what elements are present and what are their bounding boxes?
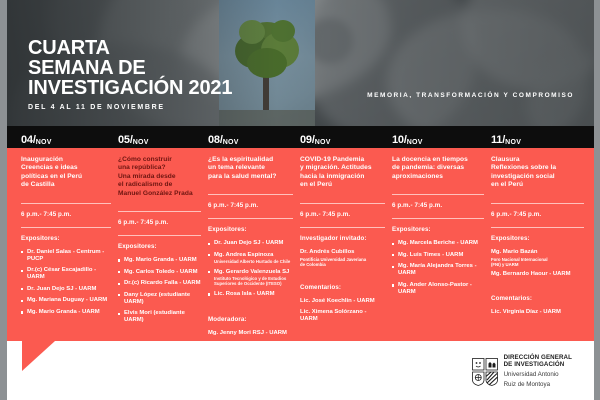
affiliation: Instituto Tecnológico y de EstudiosSuper… bbox=[214, 276, 293, 286]
speaker-name: Mg. Andrea Espinoza bbox=[214, 252, 273, 258]
session-time: 6 p.m.- 7:45 p.m. bbox=[392, 202, 484, 209]
speaker-name: Mg. Mario Granda - UARM bbox=[27, 309, 100, 315]
date-day: 08/ bbox=[208, 134, 223, 146]
date-header-09: 09/NOV bbox=[295, 126, 387, 148]
schedule-column: La docencia en tiemposde pandemia: diver… bbox=[387, 148, 486, 341]
date-month: NOV bbox=[223, 139, 239, 146]
speaker-list: Mg. Mario Granda - UARMMg. Carlos Toledo… bbox=[118, 257, 201, 324]
date-day: 05/ bbox=[118, 134, 133, 146]
person-entry: Lic. Ximena Solórzano - UARM bbox=[300, 309, 385, 324]
person-block: Mg. Jenny Mori RSJ - UARM bbox=[208, 330, 293, 337]
speaker-item: Dr. Juan Dejo SJ - UARM bbox=[21, 286, 111, 293]
session-time: 6 p.m.- 7:45 p.m. bbox=[300, 211, 385, 218]
speakers-label: Expositores: bbox=[21, 235, 111, 242]
hero-tagline: MEMORIA, TRANSFORMACIÓN Y COMPROMISO bbox=[367, 92, 574, 99]
person-name: Lic. Virginia Díaz - UARM bbox=[491, 309, 561, 315]
university-name-line-1: Universidad Antonio bbox=[504, 371, 572, 379]
speaker-item: Dr. Daniel Salas - Centrum - PUCP bbox=[21, 249, 111, 263]
person-entry: Lic. José Koechlin - UARM bbox=[300, 298, 385, 305]
person-name: Mg. Jenny Mori RSJ - UARM bbox=[208, 330, 287, 336]
divider bbox=[21, 227, 111, 228]
divider bbox=[491, 203, 584, 204]
date-month: NOV bbox=[36, 139, 52, 146]
person-block: Lic. José Koechlin - UARMLic. Ximena Sol… bbox=[300, 298, 385, 324]
date-month: NOV bbox=[407, 139, 423, 146]
footer: DIRECCIÓN GENERAL DE INVESTIGACIÓN Unive… bbox=[7, 341, 594, 400]
date-month: NOV bbox=[315, 139, 331, 146]
divider bbox=[392, 194, 484, 195]
date-day: 09/ bbox=[300, 134, 315, 146]
speaker-name: Mg. Gerardo Valenzuela SJ bbox=[214, 269, 289, 275]
speaker-item: Mg. María Alejandra Torres - UARM bbox=[392, 263, 484, 277]
speech-bubble-tail bbox=[22, 341, 55, 371]
divider bbox=[491, 227, 584, 228]
institution-logo-text: DIRECCIÓN GENERAL DE INVESTIGACIÓN Unive… bbox=[504, 354, 572, 389]
date-header-05: 05/NOV bbox=[113, 126, 203, 148]
speaker-name: Mg. Carlos Toledo - UARM bbox=[124, 269, 198, 275]
date-header-11: 11/NOV bbox=[486, 126, 586, 148]
affiliation: Pontificia Universidad Javerianade Colom… bbox=[300, 257, 385, 267]
shield-crest-icon bbox=[472, 358, 498, 386]
speaker-item: Dr.(c) César Escajadillo - UARM bbox=[21, 267, 111, 281]
left-edge-strip bbox=[0, 0, 7, 400]
date-day: 04/ bbox=[21, 134, 36, 146]
hero-title-line-3: INVESTIGACIÓN 2021 bbox=[28, 78, 232, 98]
speaker-name: Mg. Luis Times - UARM bbox=[398, 252, 463, 258]
session-time: 6 p.m.- 7:45 p.m. bbox=[118, 219, 201, 226]
affiliation: Foro Nacional Internacional(FNI) y UARM bbox=[491, 257, 584, 267]
speakers-label: Expositores: bbox=[208, 226, 293, 233]
speaker-item: Mg. Mario Granda - UARM bbox=[118, 257, 201, 264]
person-entry: Mg. Mario BazánForo Nacional Internacion… bbox=[491, 249, 584, 267]
person-block: Mg. Mario BazánForo Nacional Internacion… bbox=[491, 249, 584, 278]
speaker-name: Mg. Marcela Beriche - UARM bbox=[398, 240, 478, 246]
divider bbox=[208, 194, 293, 195]
divider bbox=[21, 203, 111, 204]
speaker-name: Mg. María Alejandra Torres - UARM bbox=[398, 263, 477, 276]
hero-banner: CUARTA SEMANA DE INVESTIGACIÓN 2021 DEL … bbox=[7, 0, 594, 126]
speaker-item: Mg. Carlos Toledo - UARM bbox=[118, 269, 201, 276]
speaker-item: Mg. Gerardo Valenzuela SJInstituto Tecno… bbox=[208, 269, 293, 287]
person-name: Mg. Bernardo Haour - UARM bbox=[491, 271, 571, 277]
speaker-name: Mg. Mario Granda - UARM bbox=[124, 257, 197, 263]
divider bbox=[300, 227, 385, 228]
speaker-item: Dr.(c) Ricardo Falla - UARM bbox=[118, 280, 201, 287]
person-block: Lic. Virginia Díaz - UARM bbox=[491, 309, 584, 316]
session-title: La docencia en tiemposde pandemia: diver… bbox=[392, 156, 484, 181]
divider bbox=[118, 211, 201, 212]
speaker-name: Dr.(c) Ricardo Falla - UARM bbox=[124, 280, 201, 286]
divider bbox=[118, 235, 201, 236]
hero-title-block: CUARTA SEMANA DE INVESTIGACIÓN 2021 DEL … bbox=[28, 38, 232, 111]
schedule-column: ¿Cómo construiruna república?Una mirada … bbox=[113, 148, 203, 341]
speaker-name: Mg. Ander Alonso-Pastor - UARM bbox=[398, 282, 472, 295]
hero-title-line-2: SEMANA DE bbox=[28, 58, 232, 78]
divider bbox=[208, 218, 293, 219]
speaker-item: Mg. Mario Granda - UARM bbox=[21, 309, 111, 316]
schedule-column: ClausuraReflexiones sobre lainvestigació… bbox=[486, 148, 586, 341]
divider bbox=[300, 203, 385, 204]
date-month: NOV bbox=[133, 139, 149, 146]
hero-subtitle: DEL 4 AL 11 DE NOVIEMBRE bbox=[28, 104, 232, 111]
speaker-list: Dr. Daniel Salas - Centrum - PUCPDr.(c) … bbox=[21, 249, 111, 316]
speaker-list: Mg. Marcela Beriche - UARMMg. Luis Times… bbox=[392, 240, 484, 296]
speaker-name: Dr. Daniel Salas - Centrum - PUCP bbox=[27, 249, 104, 262]
person-name: Mg. Mario Bazán bbox=[491, 249, 537, 255]
speaker-name: Dr. Juan Dejo SJ - UARM bbox=[214, 240, 283, 246]
person-block: Dr. Andrés CubillosPontificia Universida… bbox=[300, 249, 385, 267]
speaker-list: Dr. Juan Dejo SJ - UARMMg. Andrea Espino… bbox=[208, 240, 293, 298]
date-header-08: 08/NOV bbox=[203, 126, 295, 148]
session-title: InauguraciónCreencias e ideaspolíticas e… bbox=[21, 156, 111, 190]
section-label: Moderadora: bbox=[208, 316, 293, 323]
speaker-item: Elvis Mori (estudiante UARM) bbox=[118, 310, 201, 324]
person-name: Lic. Ximena Solórzano - UARM bbox=[300, 309, 366, 322]
speaker-item: Mg. Ander Alonso-Pastor - UARM bbox=[392, 282, 484, 296]
speakers-label: Investigador invitado: bbox=[300, 235, 385, 242]
institution-logo: DIRECCIÓN GENERAL DE INVESTIGACIÓN Unive… bbox=[472, 354, 572, 389]
speaker-name: Elvis Mori (estudiante UARM) bbox=[124, 310, 185, 323]
section-label: Comentarios: bbox=[300, 284, 385, 291]
session-title: COVID-19 Pandemiay migración. Actitudesh… bbox=[300, 156, 385, 190]
person-entry: Mg. Jenny Mori RSJ - UARM bbox=[208, 330, 293, 337]
spacer bbox=[300, 271, 385, 277]
right-edge-strip bbox=[594, 0, 600, 400]
date-header-10: 10/NOV bbox=[387, 126, 486, 148]
hero-title-line-1: CUARTA bbox=[28, 38, 232, 58]
speakers-label: Expositores: bbox=[392, 226, 484, 233]
speakers-label: Expositores: bbox=[118, 243, 201, 250]
person-entry: Mg. Bernardo Haour - UARM bbox=[491, 271, 584, 278]
person-name: Lic. José Koechlin - UARM bbox=[300, 298, 375, 304]
date-day: 10/ bbox=[392, 134, 407, 146]
speaker-item: Mg. Marcela Beriche - UARM bbox=[392, 240, 484, 247]
spacer bbox=[208, 303, 293, 309]
session-time: 6 p.m.- 7:45 p.m. bbox=[491, 211, 584, 218]
schedule-column: COVID-19 Pandemiay migración. Actitudesh… bbox=[295, 148, 387, 341]
speakers-label: Expositores: bbox=[491, 235, 584, 242]
session-title: ¿Es la espiritualidadun tema relevantepa… bbox=[208, 156, 293, 181]
schedule-body: InauguraciónCreencias e ideaspolíticas e… bbox=[7, 148, 594, 341]
session-time: 6 p.m.- 7:45 p.m. bbox=[21, 211, 111, 218]
org-name-line-2: DE INVESTIGACIÓN bbox=[504, 361, 572, 368]
date-header-bar: 04/NOV05/NOV08/NOV09/NOV10/NOV11/NOV bbox=[7, 126, 594, 148]
speaker-name: Dr. Juan Dejo SJ - UARM bbox=[27, 286, 96, 292]
date-month: NOV bbox=[505, 139, 521, 146]
speaker-item: Mg. Luis Times - UARM bbox=[392, 252, 484, 259]
person-entry: Dr. Andrés CubillosPontificia Universida… bbox=[300, 249, 385, 267]
date-header-04: 04/NOV bbox=[7, 126, 113, 148]
schedule-columns: InauguraciónCreencias e ideaspolíticas e… bbox=[7, 148, 594, 341]
spacer bbox=[491, 282, 584, 288]
speaker-name: Lic. Rosa Isla - UARM bbox=[214, 291, 275, 297]
speaker-name: Dr.(c) César Escajadillo - UARM bbox=[27, 267, 96, 280]
speaker-name: Dany López (estudiante UARM) bbox=[124, 292, 190, 305]
schedule-column: InauguraciónCreencias e ideaspolíticas e… bbox=[7, 148, 113, 341]
schedule-column: ¿Es la espiritualidadun tema relevantepa… bbox=[203, 148, 295, 341]
speaker-item: Dany López (estudiante UARM) bbox=[118, 292, 201, 306]
divider bbox=[392, 218, 484, 219]
speaker-name: Mg. Mariana Duguay - UARM bbox=[27, 297, 107, 303]
session-title: ¿Cómo construiruna república?Una mirada … bbox=[118, 156, 201, 198]
speaker-item: Lic. Rosa Isla - UARM bbox=[208, 291, 293, 298]
speaker-item: Mg. Andrea EspinozaUniversidad Alberto H… bbox=[208, 252, 293, 265]
poster-root: CUARTA SEMANA DE INVESTIGACIÓN 2021 DEL … bbox=[0, 0, 600, 400]
person-entry: Lic. Virginia Díaz - UARM bbox=[491, 309, 584, 316]
speaker-item: Dr. Juan Dejo SJ - UARM bbox=[208, 240, 293, 247]
date-day: 11/ bbox=[491, 134, 505, 146]
affiliation: Universidad Alberto Hurtado de Chile bbox=[214, 259, 293, 264]
section-label: Comentarios: bbox=[491, 295, 584, 302]
session-title: ClausuraReflexiones sobre lainvestigació… bbox=[491, 156, 584, 190]
university-name-line-2: Ruiz de Montoya bbox=[504, 381, 572, 389]
session-time: 6 p.m.- 7:45 p.m. bbox=[208, 202, 293, 209]
speaker-item: Mg. Mariana Duguay - UARM bbox=[21, 297, 111, 304]
person-name: Dr. Andrés Cubillos bbox=[300, 249, 354, 255]
